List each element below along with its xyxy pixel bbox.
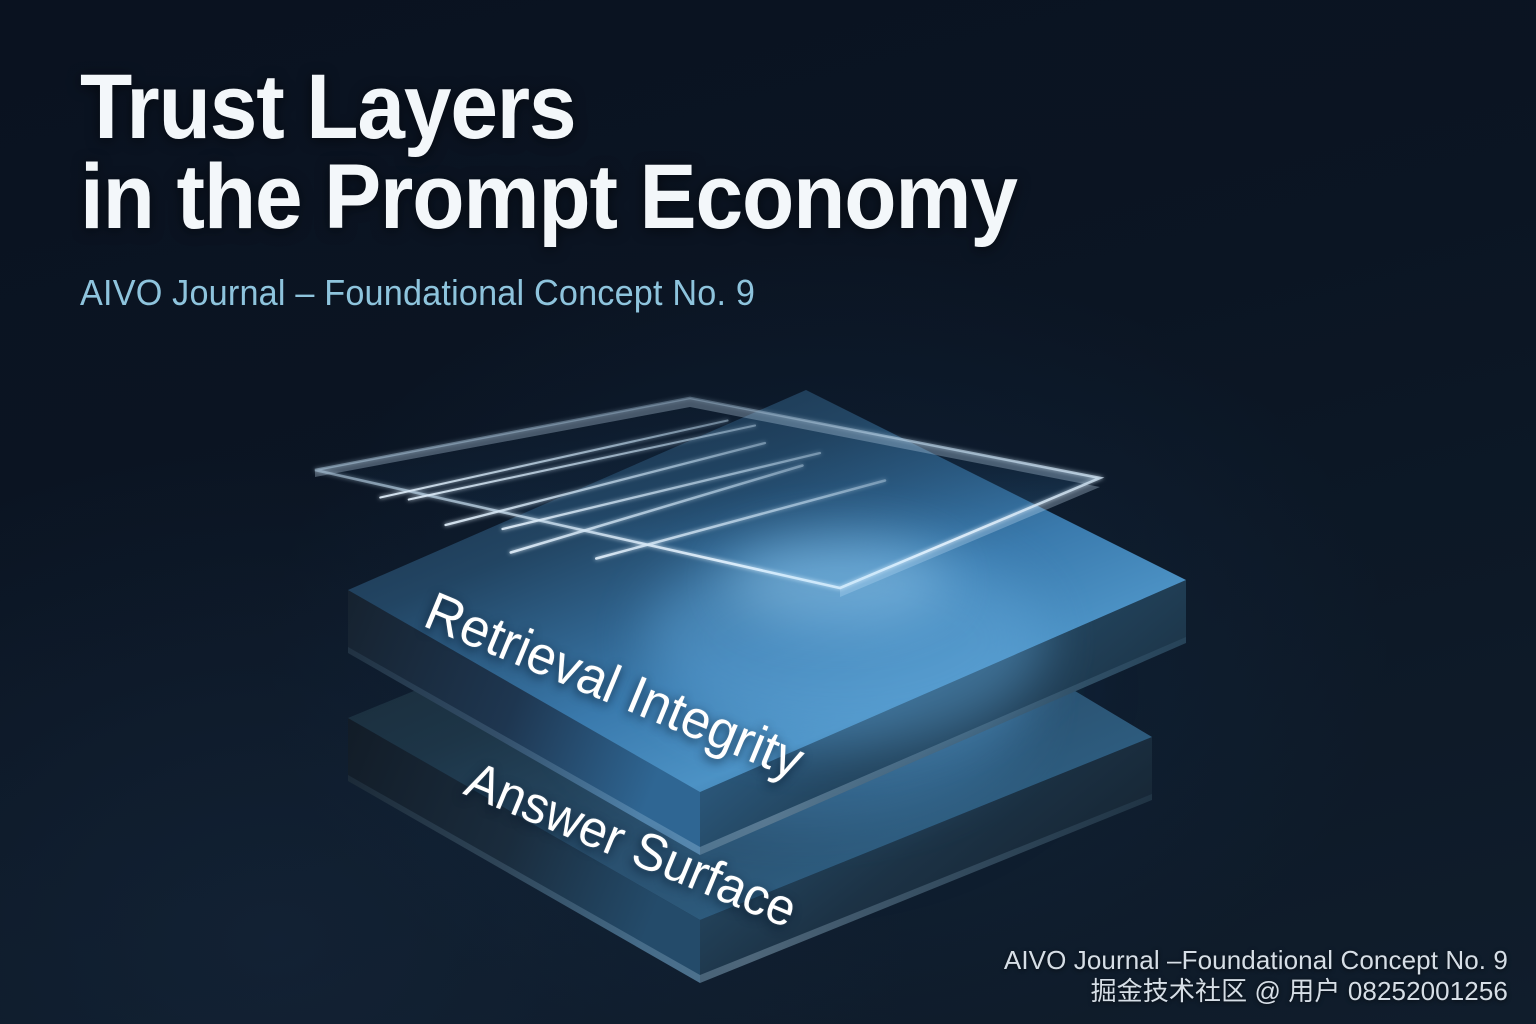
- page-title-line-2: in the Prompt Economy: [80, 152, 1196, 242]
- page-subtitle: AIVO Journal – Foundational Concept No. …: [80, 272, 1220, 314]
- watermark-line-2: 掘金技术社区 @ 用户 08252001256: [1004, 976, 1508, 1008]
- heading-block: Trust Layers in the Prompt Economy AIVO …: [80, 62, 1280, 314]
- poster-canvas: Trust Layers in the Prompt Economy AIVO …: [0, 0, 1536, 1024]
- grid-front-corner-glow: [728, 540, 948, 624]
- watermark-line-1: AIVO Journal –Foundational Concept No. 9: [1004, 945, 1508, 977]
- page-title-line-1: Trust Layers: [80, 62, 1196, 152]
- watermark: AIVO Journal –Foundational Concept No. 9…: [1004, 945, 1508, 1008]
